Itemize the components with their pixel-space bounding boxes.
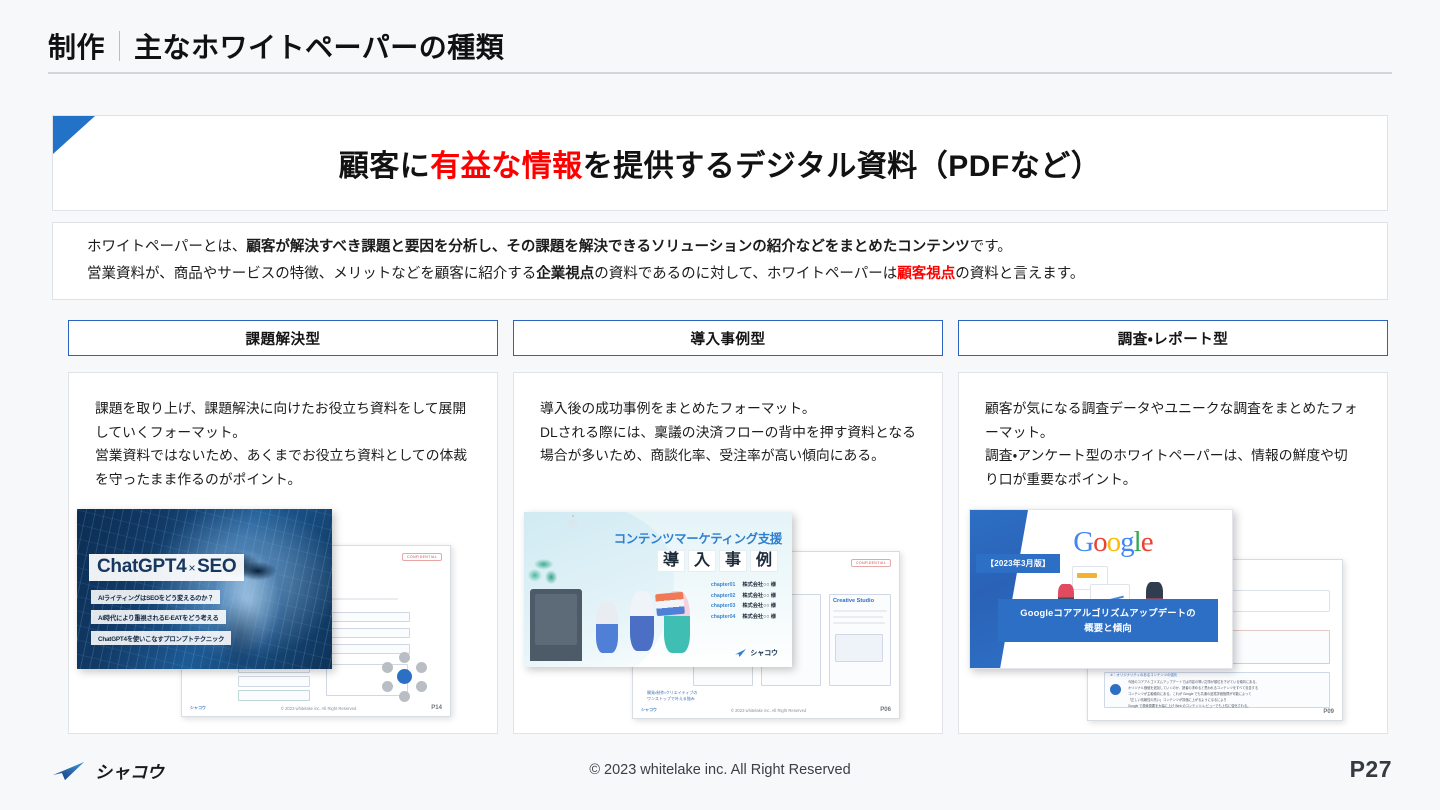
thumb2-sub-char: 入	[688, 550, 716, 572]
description-line-1: ホワイトペーパーとは、顧客が解決すべき課題と要因を分析し、その課題を解決できるソ…	[87, 234, 1353, 261]
desc2-d: 顧客視点	[897, 266, 955, 282]
desc2-b: 企業視点	[536, 266, 594, 282]
chapter-row: chapter01株式会社○○ 様	[711, 580, 776, 591]
chapter-company: 株式会社○○ 様	[742, 603, 776, 609]
thumb2-card-title: Creative Studio	[833, 598, 874, 604]
column-1-description: 課題を取り上げ、課題解決に向けたお役立ち資料をして展開していくフォーマット。 営…	[95, 397, 471, 492]
thumb3-cover: Google 【2023年3月版】 Googleコアアルゴリズムアップデートの …	[969, 509, 1233, 669]
column-3-heading: 調査・レポート型	[958, 320, 1388, 356]
description-line-2: 営業資料が、商品やサービスの特徴、メリットなどを顧客に紹介する企業視点の資料であ…	[87, 261, 1353, 288]
thumb1-bullet-2: AI時代により重視されるE-EATをどう考える	[91, 610, 226, 624]
description-box: ホワイトペーパーとは、顧客が解決すべき課題と要因を分析し、その課題を解決できるソ…	[52, 222, 1388, 300]
desc1-a: ホワイトペーパーとは、	[87, 239, 246, 255]
chapter-company: 株式会社○○ 様	[742, 582, 776, 588]
thumb1-title-sub: SEO	[197, 556, 236, 577]
thumb3-note-title: ②：オリジナリティのあるコンテンツの強化	[1110, 672, 1177, 677]
books-illustration	[655, 592, 685, 616]
thumb1-footer-copyright: © 2023 whitelake inc. All Right Reserved	[281, 706, 356, 711]
cover3-left-shape	[970, 510, 1028, 668]
column-2-thumbnail: CONFIDENTIAL Creative Studio 開発・制作・クリエイテ…	[514, 500, 942, 725]
thumb1-confidential-label: CONFIDENTIAL	[402, 553, 442, 561]
chapter-row: chapter02株式会社○○ 様	[711, 591, 776, 602]
column-1-body: 課題を取り上げ、課題解決に向けたお役立ち資料をして展開していくフォーマット。 営…	[68, 372, 498, 734]
key-message-highlight: 有益な情報	[430, 141, 583, 185]
thumb2-sub-char: 事	[719, 550, 747, 572]
key-message-prefix: 顧客に	[339, 141, 431, 185]
column-1-heading: 課題解決型	[68, 320, 498, 356]
thumb2-doc-footer: シャコウ © 2023 whitelake inc. All Right Res…	[633, 707, 899, 713]
slide-header: 制作 主なホワイトペーパーの種類	[48, 18, 1392, 74]
thumb2-doc-line	[833, 622, 885, 624]
thumb1-bullet-3: ChatGPT4を使いこなすプロンプトテクニック	[91, 631, 231, 645]
thumb2-sub-char: 導	[657, 550, 685, 572]
thumb2-sub-char: 例	[750, 550, 778, 572]
thumb2-confidential-label: CONFIDENTIAL	[851, 559, 891, 567]
desc2-c: の資料であるのに対して、ホワイトペーパーは	[594, 266, 897, 282]
thumb2-footer-logo: シャコウ	[641, 707, 657, 713]
thumb1-footer-logo: シャコウ	[190, 705, 206, 711]
thumb1-cover-title: ChatGPT4×SEO	[89, 554, 244, 581]
thumb3-step-badge	[1110, 684, 1121, 695]
key-message-suffix: を提供するデジタル資料（PDFなど）	[583, 141, 1101, 185]
key-message-banner: 顧客に有益な情報を提供するデジタル資料（PDFなど）	[52, 115, 1388, 211]
person-illustration	[596, 601, 618, 653]
thumb2-chapter-list: chapter01株式会社○○ 様 chapter02株式会社○○ 様 chap…	[711, 580, 776, 623]
thumb2-doc-line	[833, 616, 883, 618]
thumb2-doc-line	[833, 610, 887, 612]
desc1-b: 顧客が解決すべき課題と要因を分析し、その課題を解決できるソリューションの紹介など…	[246, 239, 969, 255]
slide-root: 制作 主なホワイトペーパーの種類 顧客に有益な情報を提供するデジタル資料（PDF…	[0, 0, 1440, 810]
google-logo: Google	[1073, 526, 1152, 559]
thumb1-doc-box	[238, 690, 310, 701]
chapter-number: chapter03	[711, 603, 736, 609]
desc2-e: の資料と言えます。	[955, 266, 1084, 282]
chapter-number: chapter02	[711, 593, 736, 599]
thumb3-cover-band: Googleコアアルゴリズムアップデートの 概要と傾向	[998, 599, 1218, 642]
slide-footer: シャコウ © 2023 whitelake inc. All Right Res…	[0, 746, 1440, 810]
thumb3-band-line-2: 概要と傾向	[1002, 621, 1214, 635]
thumb2-cover-logo-text: シャコウ	[750, 648, 778, 658]
chapter-row: chapter04株式会社○○ 様	[711, 612, 776, 623]
thumb1-doc-footer: シャコウ © 2023 whitelake inc. All Right Res…	[182, 705, 450, 711]
desc1-c: です。	[970, 239, 1012, 255]
column-1-thumbnail: CONFIDENTIAL	[69, 500, 497, 725]
thumb2-footer-copyright: © 2023 whitelake inc. All Right Reserved	[731, 708, 806, 713]
thumb2-footer-page: P06	[880, 707, 891, 713]
column-case-study: 導入事例型 導入後の成功事例をまとめたフォーマット。 DLされる際には、稟議の決…	[513, 320, 943, 734]
chapter-number: chapter04	[711, 614, 736, 620]
thumb1-title-x: ×	[188, 561, 195, 575]
column-2-heading: 導入事例型	[513, 320, 943, 356]
page-title: 制作 主なホワイトペーパーの種類	[48, 26, 504, 66]
thumb2-caption: 開発・制作・クリエイティブの ワンストップで叶える強み	[647, 690, 697, 703]
desc2-a: 営業資料が、商品やサービスの特徴、メリットなどを顧客に紹介する	[87, 266, 536, 282]
column-3-description: 顧客が気になる調査データやユニークな調査をまとめたフォーマット。 調査・アンケー…	[985, 397, 1361, 492]
column-survey-report: 調査・レポート型 顧客が気になる調査データやユニークな調査をまとめたフォーマット…	[958, 320, 1388, 734]
chapter-number: chapter01	[711, 582, 736, 588]
type-columns: 課題解決型 課題を取り上げ、課題解決に向けたお役立ち資料をして展開していくフォー…	[68, 320, 1388, 734]
chapter-company: 株式会社○○ 様	[742, 593, 776, 599]
column-issue-solution: 課題解決型 課題を取り上げ、課題解決に向けたお役立ち資料をして展開していくフォー…	[68, 320, 498, 734]
column-2-description: 導入後の成功事例をまとめたフォーマット。 DLされる際には、稟議の決済フローの背…	[540, 397, 916, 468]
chapter-company: 株式会社○○ 様	[742, 614, 776, 620]
thumb2-cover-title: コンテンツマーケティング支援	[614, 529, 782, 547]
thumb2-cover: コンテンツマーケティング支援 導 入 事 例 chapter01株式会社○○ 様…	[524, 512, 792, 667]
thumb1-cover: ChatGPT4×SEO AIライティングはSEOをどう変えるのか？ AI時代に…	[77, 509, 332, 669]
thumb1-doc-box	[238, 676, 310, 687]
column-3-body: 顧客が気になる調査データやユニークな調査をまとめたフォーマット。 調査・アンケー…	[958, 372, 1388, 734]
page-title-main: 主なホワイトペーパーの種類	[134, 26, 504, 66]
key-message-text: 顧客に有益な情報を提供するデジタル資料（PDFなど）	[53, 116, 1387, 210]
thumb3-doc-footer: P09	[1088, 709, 1342, 715]
thumb3-note-body: 今回のコアアルゴリズムアップデートでは内容の薄い記事が順位を下げている傾向にある…	[1128, 680, 1259, 710]
paper-plane-icon	[735, 649, 747, 657]
thumb2-doc-img	[835, 634, 883, 662]
thumb3-band-line-1: Googleコアアルゴリズムアップデートの	[1002, 606, 1214, 620]
column-2-body: 導入後の成功事例をまとめたフォーマット。 DLされる際には、稟議の決済フローの背…	[513, 372, 943, 734]
lamp-illustration	[568, 518, 578, 528]
thumb1-title-main: ChatGPT4	[97, 556, 186, 577]
page-title-category: 制作	[48, 26, 105, 66]
title-divider	[119, 31, 120, 61]
plant-illustration	[526, 556, 560, 602]
header-rule	[48, 72, 1392, 74]
column-3-thumbnail: 向がある ○○のコアアップデートは、品質の低いコンテンツを評価 ○○に関する記述…	[959, 500, 1387, 725]
person-illustration	[630, 591, 654, 651]
thumb1-node-diagram	[382, 654, 428, 700]
thumb3-date-tag: 【2023年3月版】	[976, 554, 1060, 573]
copyright-text: © 2023 whitelake inc. All Right Reserved	[0, 762, 1440, 778]
chapter-row: chapter03株式会社○○ 様	[711, 601, 776, 612]
thumb2-cover-subtitle: 導 入 事 例	[657, 550, 778, 572]
thumb1-bullet-1: AIライティングはSEOをどう変えるのか？	[91, 590, 220, 604]
thumb3-footer-page: P09	[1323, 709, 1334, 715]
thumb1-footer-page: P14	[431, 705, 442, 711]
thumb2-cover-logo: シャコウ	[735, 648, 778, 658]
page-number: P27	[1350, 756, 1392, 783]
